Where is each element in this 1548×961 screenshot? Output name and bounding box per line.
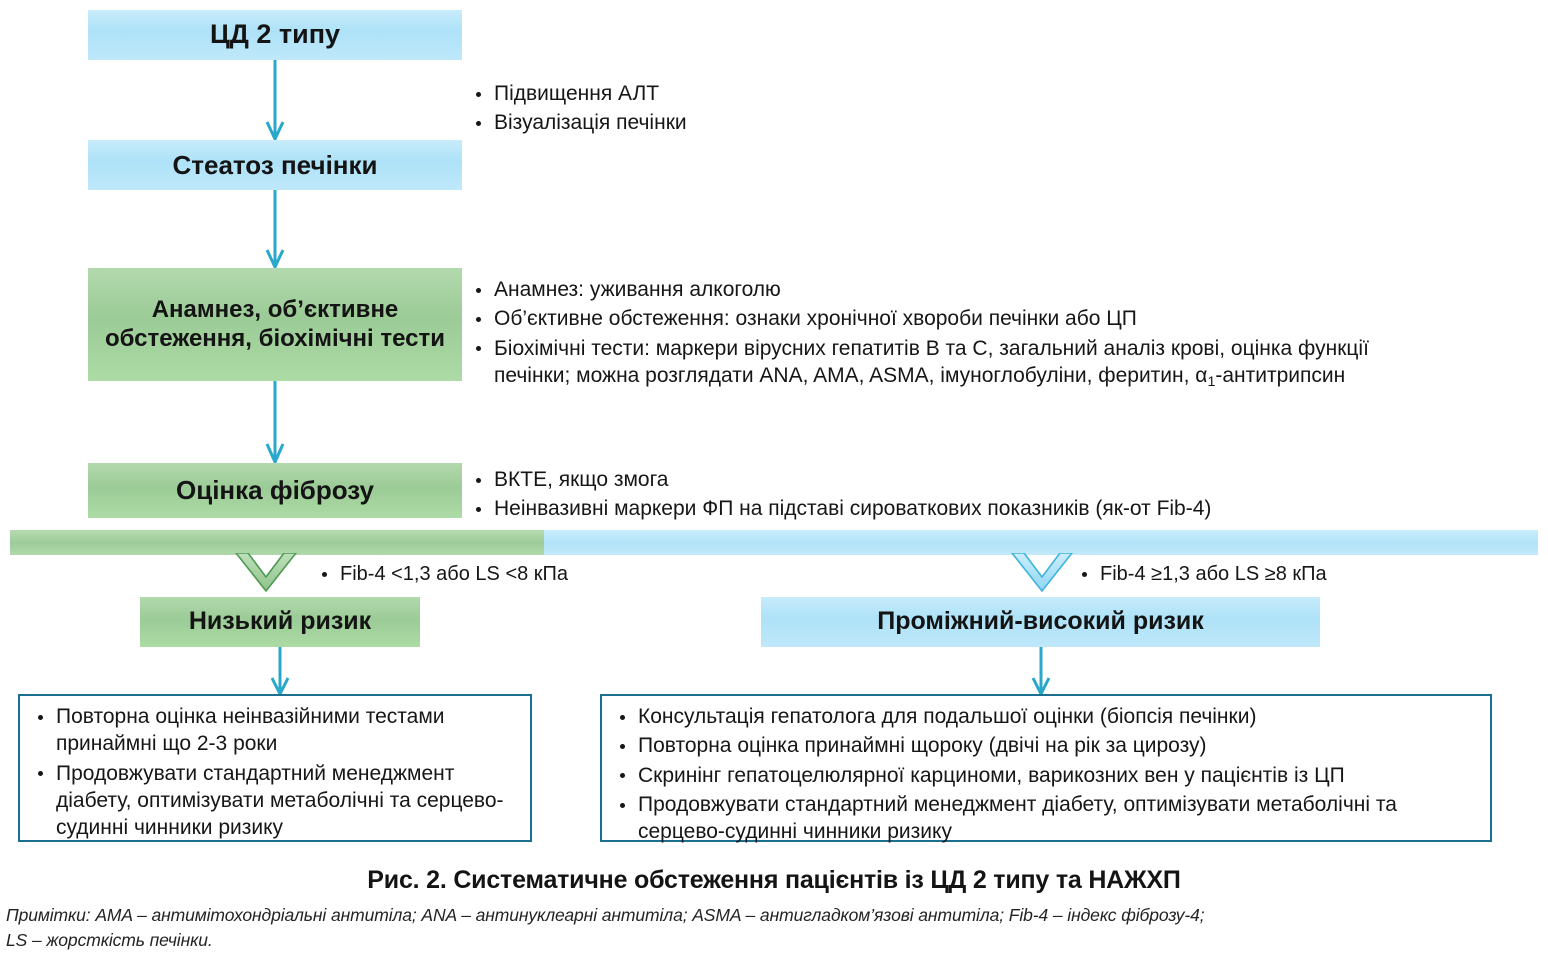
figure-notes-line-2: LS – жорсткість печінки. [6, 928, 1546, 953]
list-item: Анамнез: уживання алкоголю [472, 276, 1517, 303]
biochem-line-2-pre: печінки; можна розглядати ANA, AMA, ASMA… [494, 364, 1207, 387]
fibrosis-criteria-list: ВКТЕ, якщо змога Неінвазивні маркери ФП … [472, 466, 1472, 523]
node-fibrosis-assessment: Оцінка фіброзу [88, 463, 462, 518]
chevron-low-risk [234, 553, 298, 597]
list-item: Неінвазивні маркери ФП на підставі сиров… [472, 495, 1472, 522]
figure-notes: Примітки: AMA – антимітохондріальні анти… [6, 903, 1546, 953]
node-liver-steatosis-label: Стеатоз печінки [172, 150, 377, 181]
node-liver-steatosis: Стеатоз печінки [88, 140, 462, 190]
connector-diabetes-to-steatosis [262, 60, 288, 140]
list-item: Скринінг гепатоцелюлярної карциноми, вар… [616, 762, 1484, 789]
figure-caption: Рис. 2. Систематичне обстеження пацієнті… [0, 866, 1548, 895]
list-item: Повторна оцінка неінвазійними тестами пр… [34, 703, 526, 758]
list-item-biochem: Біохімічні тести: маркери вірусних гепат… [472, 335, 1517, 392]
outcome-list-high-risk: Консультація гепатолога для подальшої оц… [616, 703, 1484, 845]
node-type2-diabetes-label: ЦД 2 типу [210, 19, 340, 51]
split-band-green [10, 530, 544, 555]
branch-label-low-risk: Fib-4 <1,3 або LS <8 кПа [318, 561, 738, 587]
split-band-blue [544, 530, 1538, 555]
figure-notes-line-1: Примітки: AMA – антимітохондріальні анти… [6, 903, 1546, 928]
list-item: Fib-4 ≥1,3 або LS ≥8 кПа [1078, 561, 1498, 587]
list-item: Консультація гепатолога для подальшої оц… [616, 703, 1484, 730]
biochem-line-2-post: -антитрипсин [1215, 364, 1345, 387]
outcome-list-low-risk: Повторна оцінка неінвазійними тестами пр… [34, 703, 526, 841]
node-intermediate-high-risk-label: Проміжний-високий ризик [877, 607, 1204, 637]
steatosis-criteria-list: Підвищення АЛТ Візуалізація печінки [472, 80, 1032, 137]
connector-high-risk-to-actions [1028, 647, 1054, 695]
list-item: Підвищення АЛТ [472, 80, 1032, 107]
branch-label-high-risk: Fib-4 ≥1,3 або LS ≥8 кПа [1078, 561, 1498, 587]
node-low-risk: Низький ризик [140, 597, 420, 647]
chevron-high-risk [1010, 553, 1074, 597]
list-item: Об’єктивне обстеження: ознаки хронічної … [472, 305, 1517, 332]
list-item: Візуалізація печінки [472, 109, 1032, 136]
connector-steatosis-to-history [262, 190, 288, 268]
node-history-exam-biochem-label: Анамнез, об’єктивне обстеження, біохіміч… [102, 296, 448, 353]
connector-history-to-fibrosis [262, 381, 288, 463]
node-fibrosis-assessment-label: Оцінка фіброзу [176, 475, 374, 506]
connector-low-risk-to-actions [267, 647, 293, 695]
flowchart-figure: ЦД 2 типу Стеатоз печінки Підвищення АЛТ… [0, 0, 1548, 961]
node-low-risk-label: Низький ризик [189, 607, 371, 637]
node-type2-diabetes: ЦД 2 типу [88, 10, 462, 60]
node-history-exam-biochem: Анамнез, об’єктивне обстеження, біохіміч… [88, 268, 462, 381]
history-criteria-list: Анамнез: уживання алкоголю Об’єктивне об… [472, 276, 1517, 391]
biochem-line-1: Біохімічні тести: маркери вірусних гепат… [494, 337, 1369, 360]
list-item: Fib-4 <1,3 або LS <8 кПа [318, 561, 738, 587]
list-item: Продовжувати стандартний менеджмент діаб… [616, 791, 1484, 846]
list-item: ВКТЕ, якщо змога [472, 466, 1472, 493]
node-intermediate-high-risk: Проміжний-високий ризик [761, 597, 1320, 647]
list-item: Повторна оцінка принаймні щороку (двічі … [616, 732, 1484, 759]
list-item: Продовжувати стандартний менеджмент діаб… [34, 760, 526, 842]
